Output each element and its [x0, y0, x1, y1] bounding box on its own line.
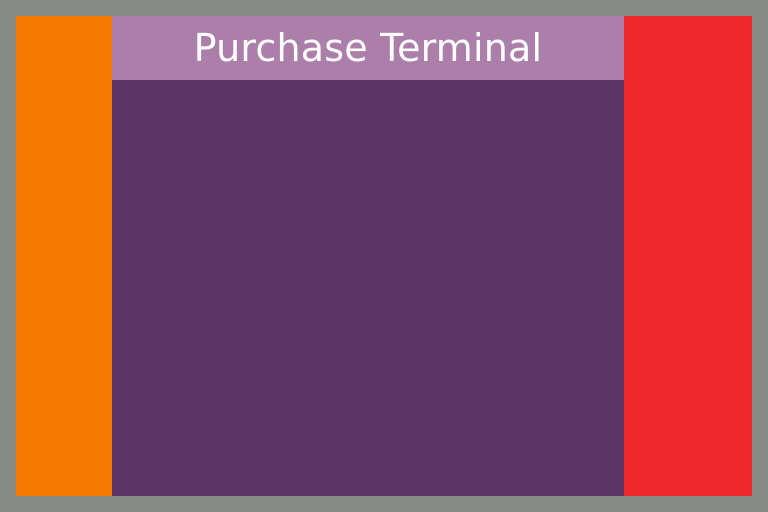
- right-accent-rail: [624, 16, 752, 496]
- terminal-titlebar: Purchase Terminal: [112, 16, 624, 80]
- terminal-body: [112, 80, 624, 496]
- purchase-terminal-panel: Purchase Terminal: [112, 16, 624, 496]
- left-accent-rail: [16, 16, 112, 496]
- app-root: Purchase Terminal: [0, 0, 768, 512]
- page-title: Purchase Terminal: [194, 29, 543, 67]
